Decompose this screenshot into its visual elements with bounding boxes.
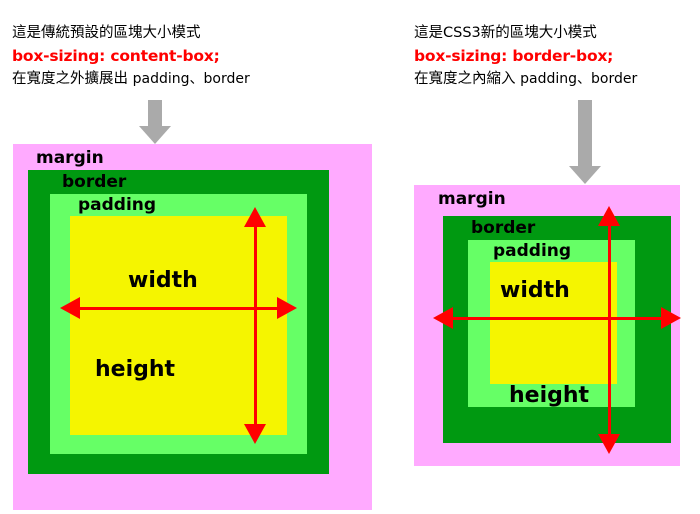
right-padding-label: padding — [493, 241, 571, 261]
caption-left-line3-prefix: 在寬度之外擴展出 — [12, 71, 133, 87]
right-margin-box: margin border padding width height — [414, 185, 680, 466]
caption-right-code: box-sizing: border-box; — [414, 44, 637, 68]
caption-right-line3-prefix: 在寬度之內縮入 — [414, 71, 520, 87]
arrow-head — [569, 166, 601, 184]
caption-left-line3: 在寬度之外擴展出 padding、border — [12, 68, 250, 91]
arrow-line — [254, 218, 257, 433]
arrow-head — [139, 126, 171, 144]
right-height-label: height — [509, 383, 589, 408]
left-width-label: width — [128, 268, 198, 293]
arrow-head-right — [661, 307, 681, 329]
down-arrow-icon-right — [569, 100, 601, 185]
left-content-box: width height — [70, 216, 287, 435]
left-padding-label: padding — [78, 195, 156, 215]
down-arrow-icon-left — [139, 100, 171, 144]
left-border-label: border — [62, 172, 126, 192]
left-border-box: border padding width height — [28, 170, 329, 474]
caption-right-line3-terms: padding、border — [520, 71, 637, 87]
right-width-label: width — [500, 278, 570, 303]
right-width-arrow — [433, 305, 681, 331]
left-height-arrow — [242, 207, 268, 444]
caption-content-box: 這是傳統預設的區塊大小模式 box-sizing: content-box; 在… — [12, 22, 250, 91]
arrow-line — [444, 317, 670, 320]
arrow-shaft — [148, 100, 162, 128]
arrow-head-down — [244, 424, 266, 444]
caption-left-code: box-sizing: content-box; — [12, 44, 250, 68]
right-border-box: border padding width height — [443, 216, 671, 443]
left-padding-box: padding width height — [50, 194, 307, 454]
arrow-head-right — [277, 297, 297, 319]
right-height-arrow — [596, 206, 622, 454]
left-margin-box: margin border padding width heig — [13, 144, 372, 510]
caption-right-line1: 這是CSS3新的區塊大小模式 — [414, 22, 637, 44]
right-margin-label: margin — [438, 189, 506, 209]
caption-right-line3: 在寬度之內縮入 padding、border — [414, 68, 637, 91]
right-border-label: border — [471, 218, 535, 238]
caption-left-line3-terms: padding、border — [133, 71, 250, 87]
arrow-head-down — [598, 434, 620, 454]
left-height-label: height — [95, 357, 175, 382]
left-margin-label: margin — [36, 148, 104, 168]
arrow-shaft — [578, 100, 592, 168]
caption-left-line1: 這是傳統預設的區塊大小模式 — [12, 22, 250, 44]
caption-border-box: 這是CSS3新的區塊大小模式 box-sizing: border-box; 在… — [414, 22, 637, 91]
arrow-line — [608, 217, 611, 443]
